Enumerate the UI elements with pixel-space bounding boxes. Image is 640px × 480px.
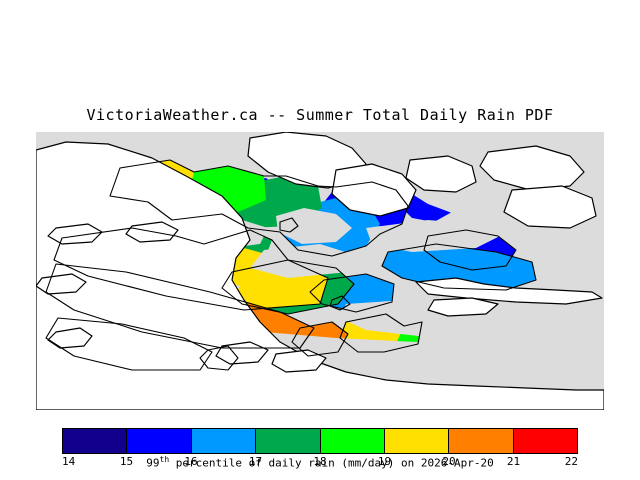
colorbar-band-18-19 [320,429,384,453]
page-title: VictoriaWeather.ca -- Summer Total Daily… [0,106,640,124]
map-panel [36,132,604,410]
precipitation-contour-map [36,132,604,410]
colorbar-band-19-20 [384,429,448,453]
colorbar-caption: 99th percentile of daily rain (mm/day) o… [0,455,640,470]
colorbar-band-20-21 [448,429,512,453]
land-islet-5 [428,298,498,316]
colorbar-band-15-16 [126,429,190,453]
colorbar-band-16-17 [191,429,255,453]
caption-superscript: th [160,455,170,464]
colorbar-band-21-22 [513,429,577,453]
colorbar-band-14-15 [63,429,126,453]
colorbar: 141516171819202122 [0,424,640,480]
colorbar-band-17-18 [255,429,319,453]
caption-prefix: 99 [146,457,159,470]
caption-rest: percentile of daily rain (mm/day) on 202… [169,457,494,470]
colorbar-bands [62,428,578,454]
